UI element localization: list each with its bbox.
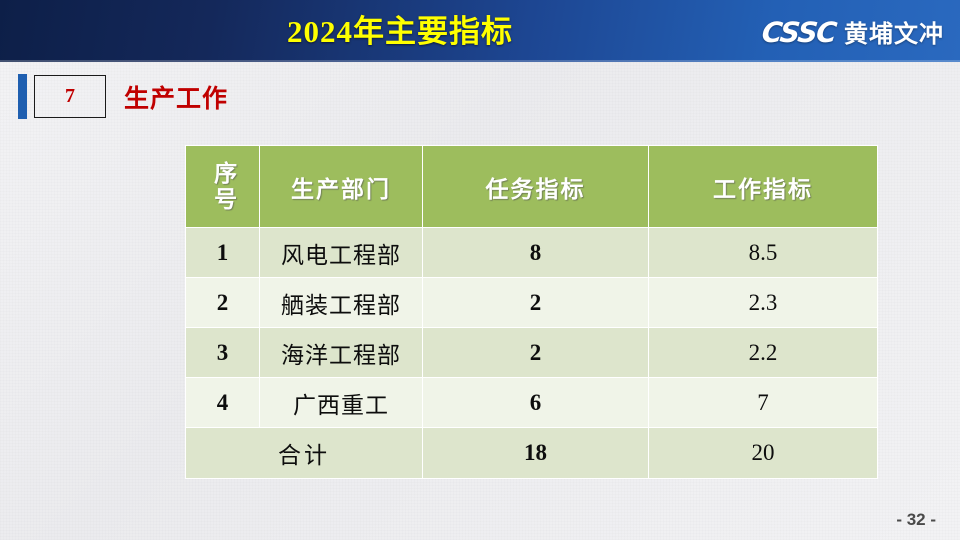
cell-seq: 3 <box>186 328 259 377</box>
cell-work: 2.2 <box>649 328 877 377</box>
column-header-seq-label: 序号 <box>210 161 234 213</box>
slide-banner: 2024年主要指标 CSSC 黄埔文冲 <box>0 0 960 62</box>
table-row: 1 风电工程部 8 8.5 <box>186 228 877 277</box>
cell-seq: 2 <box>186 278 259 327</box>
cell-dept: 海洋工程部 <box>260 328 422 377</box>
column-header-seq: 序号 <box>186 146 259 227</box>
cell-task: 8 <box>423 228 648 277</box>
column-header-dept: 生产部门 <box>260 146 422 227</box>
cell-dept: 风电工程部 <box>260 228 422 277</box>
cell-dept: 广西重工 <box>260 378 422 427</box>
cssc-logo-text: CSSC <box>760 16 837 49</box>
column-header-work: 工作指标 <box>649 146 877 227</box>
table-row: 3 海洋工程部 2 2.2 <box>186 328 877 377</box>
column-header-task: 任务指标 <box>423 146 648 227</box>
section-number-box: 7 <box>34 75 106 118</box>
section-accent-bar <box>18 74 27 119</box>
cell-total-task: 18 <box>423 428 648 478</box>
metrics-table-container: 序号 生产部门 任务指标 工作指标 1 风电工程部 8 8.5 2 舾装工程部 <box>185 145 873 479</box>
page-number: - 32 - <box>896 510 936 530</box>
cell-total-work: 20 <box>649 428 877 478</box>
section-title: 生产工作 <box>124 79 228 115</box>
metrics-table: 序号 生产部门 任务指标 工作指标 1 风电工程部 8 8.5 2 舾装工程部 <box>185 145 878 479</box>
company-logo: CSSC 黄埔文冲 <box>762 14 944 49</box>
table-row: 4 广西重工 6 7 <box>186 378 877 427</box>
cell-total-label: 合计 <box>186 428 422 478</box>
table-header-row: 序号 生产部门 任务指标 工作指标 <box>186 146 877 227</box>
cell-work: 8.5 <box>649 228 877 277</box>
cell-seq: 4 <box>186 378 259 427</box>
cell-work: 2.3 <box>649 278 877 327</box>
cell-dept: 舾装工程部 <box>260 278 422 327</box>
cell-task: 6 <box>423 378 648 427</box>
cell-task: 2 <box>423 278 648 327</box>
cell-seq: 1 <box>186 228 259 277</box>
slide: 2024年主要指标 CSSC 黄埔文冲 7 生产工作 序号 生产部门 <box>0 0 960 540</box>
cell-task: 2 <box>423 328 648 377</box>
cell-work: 7 <box>649 378 877 427</box>
section-header: 7 生产工作 <box>18 74 228 119</box>
table-total-row: 合计 18 20 <box>186 428 877 478</box>
table-row: 2 舾装工程部 2 2.3 <box>186 278 877 327</box>
company-name-cn: 黄埔文冲 <box>844 14 944 49</box>
section-number: 7 <box>65 85 75 108</box>
